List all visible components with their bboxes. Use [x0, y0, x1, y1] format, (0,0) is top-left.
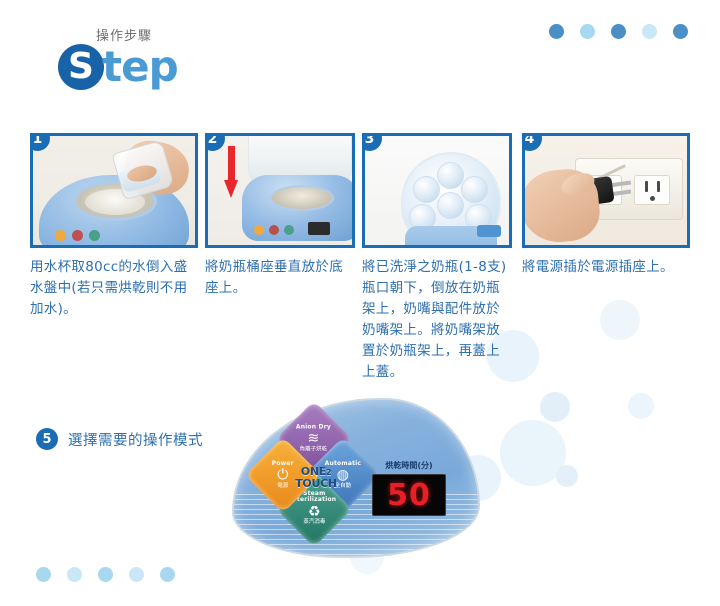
pouring-water-into-basin-photo — [33, 136, 195, 245]
one-touch-brand-mark: ONE2 TOUCH — [286, 466, 346, 489]
plugging-power-cord-photo — [525, 136, 687, 245]
step-item-1: 1 用水杯取80cc的水倒入盛水盤中(若 — [30, 133, 198, 320]
decor-dot — [98, 567, 113, 582]
placing-basket-on-base-photo — [208, 136, 352, 245]
step-2-caption: 將奶瓶桶座垂直放於底座上。 — [205, 257, 355, 299]
anion-dry-icon: ≋ — [296, 432, 331, 447]
down-arrow-icon — [224, 146, 238, 204]
lcd-value: 50 — [387, 478, 431, 513]
decor-dot — [549, 24, 564, 39]
decor-dot — [36, 567, 51, 582]
step-5-badge: 5 — [36, 428, 58, 450]
step-2-image-frame: 2 — [205, 133, 355, 248]
step-4-image-frame: 4 — [522, 133, 690, 248]
drying-time-display: 烘乾時間(分) 50 — [372, 460, 446, 516]
step-4-caption: 將電源插於電源插座上。 — [522, 257, 690, 278]
step-item-2: 2 將奶瓶 — [205, 133, 355, 299]
step-logo-initial: S — [58, 44, 104, 90]
decorative-bubble — [540, 392, 570, 422]
top-dot-row — [549, 24, 688, 39]
step-5-label: 選擇需要的操作模式 — [68, 429, 203, 450]
decorative-bubble — [600, 300, 640, 340]
step-item-5: 5 選擇需要的操作模式 — [36, 428, 203, 450]
steam-sterilization-label-zh: 蒸汽消毒 — [287, 521, 341, 527]
decor-dot — [160, 567, 175, 582]
bottles-in-rack-photo — [365, 136, 509, 245]
page-root: 操作步驟 S tep 1 — [0, 0, 720, 606]
decorative-bubble — [628, 393, 654, 419]
mode-button-cluster: Anion Dry ≋ 負離子烘乾 Automatic ◍ 全自動 Steam … — [258, 416, 370, 534]
drying-time-label: 烘乾時間(分) — [372, 460, 446, 471]
steam-sterilization-icon: ♻ — [287, 505, 341, 520]
step-3-image-frame: 3 — [362, 133, 512, 248]
lcd-screen: 50 — [372, 474, 446, 516]
one-touch-line2: TOUCH — [295, 477, 337, 490]
step-1-image-frame: 1 — [30, 133, 198, 248]
step-item-3: 3 將已洗淨之奶瓶(1-8支)瓶口朝下，倒放在奶瓶架上，奶嘴與配件放於奶嘴 — [362, 133, 512, 383]
step-1-caption: 用水杯取80cc的水倒入盛水盤中(若只需烘乾則不用加水)。 — [30, 257, 198, 320]
decor-dot — [673, 24, 688, 39]
decorative-bubble — [556, 465, 578, 487]
decor-dot — [67, 567, 82, 582]
step-item-4: 4 — [522, 133, 690, 278]
bottom-dot-row — [36, 567, 175, 582]
decor-dot — [642, 24, 657, 39]
step-logo-rest: tep — [102, 46, 178, 88]
decor-dot — [580, 24, 595, 39]
decor-dot — [129, 567, 144, 582]
control-panel-illustration: Anion Dry ≋ 負離子烘乾 Automatic ◍ 全自動 Steam … — [232, 398, 480, 558]
step-3-caption: 將已洗淨之奶瓶(1-8支)瓶口朝下，倒放在奶瓶架上，奶嘴與配件放於奶嘴架上。將奶… — [362, 257, 512, 383]
decor-dot — [611, 24, 626, 39]
page-header: 操作步驟 S tep — [0, 0, 720, 120]
step-logo: S tep — [58, 44, 178, 90]
